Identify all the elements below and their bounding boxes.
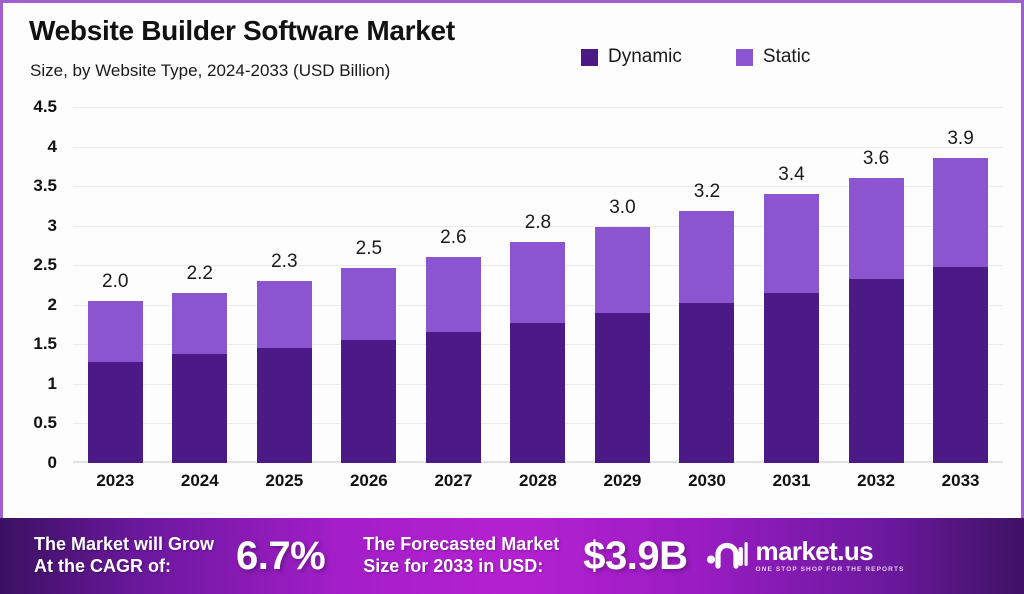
bar-stack[interactable] <box>595 227 650 463</box>
bar-stack[interactable] <box>88 301 143 463</box>
forecast-value: $3.9B <box>583 534 687 579</box>
bar-stack[interactable] <box>341 268 396 463</box>
bar-segment-static[interactable] <box>595 227 650 313</box>
logo-wordmark: market.us ONE STOP SHOP FOR THE REPORTS <box>756 538 905 574</box>
y-axis-tick: 2 <box>48 295 57 315</box>
bar-segment-static[interactable] <box>172 293 227 354</box>
logo-name: market.us <box>756 538 905 564</box>
y-axis-tick: 0 <box>48 453 57 473</box>
bar-segment-static[interactable] <box>764 194 819 293</box>
bar-value-label: 3.2 <box>694 181 720 203</box>
bar-value-label: 2.3 <box>271 251 297 273</box>
bar-column[interactable]: 3.9 <box>919 107 1002 463</box>
market-us-logo[interactable]: market.us ONE STOP SHOP FOR THE REPORTS <box>706 538 905 574</box>
x-axis-tick: 2033 <box>919 471 1002 491</box>
bar-group: 2.02.22.32.52.62.83.03.23.43.63.9 <box>73 107 1003 463</box>
bar-segment-dynamic[interactable] <box>679 303 734 463</box>
bar-segment-static[interactable] <box>341 268 396 339</box>
bar-segment-dynamic[interactable] <box>341 340 396 463</box>
chart-subtitle: Size, by Website Type, 2024-2033 (USD Bi… <box>30 61 390 81</box>
bar-value-label: 3.4 <box>778 164 804 186</box>
x-axis: 2023202420252026202720282029203020312032… <box>73 471 1003 491</box>
bar-value-label: 2.6 <box>440 227 466 249</box>
x-axis-tick: 2028 <box>496 471 579 491</box>
x-axis-tick: 2032 <box>835 471 918 491</box>
x-axis-tick: 2025 <box>243 471 326 491</box>
forecast-caption-line1: The Forecasted Market <box>363 534 559 556</box>
cagr-caption-line1: The Market will Grow <box>34 534 214 556</box>
x-axis-tick: 2024 <box>158 471 241 491</box>
infographic-root: Website Builder Software Market Size, by… <box>0 0 1024 594</box>
legend-item-static[interactable]: Static <box>736 46 811 68</box>
bar-segment-dynamic[interactable] <box>510 323 565 463</box>
bar-column[interactable]: 2.6 <box>412 107 495 463</box>
cagr-caption: The Market will Grow At the CAGR of: <box>34 534 214 578</box>
bar-column[interactable]: 2.0 <box>74 107 157 463</box>
bar-value-label: 3.9 <box>947 128 973 150</box>
bar-value-label: 3.0 <box>609 197 635 219</box>
bar-segment-static[interactable] <box>849 178 904 279</box>
bar-segment-dynamic[interactable] <box>595 313 650 463</box>
bar-column[interactable]: 3.2 <box>665 107 748 463</box>
bar-segment-dynamic[interactable] <box>933 267 988 463</box>
y-axis-tick: 2.5 <box>33 255 57 275</box>
bar-segment-static[interactable] <box>257 281 312 347</box>
bar-segment-dynamic[interactable] <box>88 362 143 463</box>
x-axis-tick: 2030 <box>665 471 748 491</box>
bar-segment-dynamic[interactable] <box>172 354 227 463</box>
legend-item-dynamic[interactable]: Dynamic <box>581 46 682 68</box>
cagr-caption-line2: At the CAGR of: <box>34 556 214 578</box>
bar-segment-static[interactable] <box>933 158 988 267</box>
bar-segment-dynamic[interactable] <box>426 332 481 463</box>
x-axis-tick: 2029 <box>581 471 664 491</box>
bar-segment-dynamic[interactable] <box>257 348 312 464</box>
y-axis-tick: 1.5 <box>33 334 57 354</box>
bar-column[interactable]: 2.5 <box>327 107 410 463</box>
bar-segment-dynamic[interactable] <box>849 279 904 463</box>
bar-segment-static[interactable] <box>88 301 143 362</box>
bar-value-label: 2.8 <box>525 212 551 234</box>
bar-column[interactable]: 2.3 <box>243 107 326 463</box>
bar-value-label: 2.0 <box>102 271 128 293</box>
y-axis-tick: 4 <box>48 137 57 157</box>
bar-segment-static[interactable] <box>510 242 565 323</box>
bar-stack[interactable] <box>510 242 565 464</box>
bar-value-label: 3.6 <box>863 148 889 170</box>
x-axis-tick: 2027 <box>412 471 495 491</box>
bar-stack[interactable] <box>849 178 904 463</box>
page-title: Website Builder Software Market <box>29 15 455 47</box>
y-axis-tick: 3 <box>48 216 57 236</box>
chart-legend: DynamicStatic <box>581 46 810 68</box>
bar-stack[interactable] <box>172 293 227 463</box>
bar-segment-static[interactable] <box>679 211 734 303</box>
bar-column[interactable]: 3.4 <box>750 107 833 463</box>
logo-tagline: ONE STOP SHOP FOR THE REPORTS <box>756 567 905 574</box>
legend-label: Dynamic <box>608 46 682 68</box>
forecast-caption: The Forecasted Market Size for 2033 in U… <box>363 534 559 578</box>
legend-label: Static <box>763 46 811 68</box>
chart-panel: Website Builder Software Market Size, by… <box>0 0 1024 518</box>
y-axis-tick: 0.5 <box>33 413 57 433</box>
bar-column[interactable]: 3.6 <box>835 107 918 463</box>
y-axis-tick: 4.5 <box>33 97 57 117</box>
y-axis-tick: 3.5 <box>33 176 57 196</box>
bar-segment-dynamic[interactable] <box>764 293 819 463</box>
bar-stack[interactable] <box>257 281 312 463</box>
x-axis-tick: 2023 <box>74 471 157 491</box>
bar-stack[interactable] <box>679 211 734 463</box>
bar-stack[interactable] <box>764 194 819 463</box>
bar-column[interactable]: 3.0 <box>581 107 664 463</box>
square-swatch-icon <box>581 49 598 66</box>
forecast-caption-line2: Size for 2033 in USD: <box>363 556 559 578</box>
x-axis-tick: 2026 <box>327 471 410 491</box>
y-axis-tick: 1 <box>48 374 57 394</box>
bar-value-label: 2.5 <box>356 238 382 260</box>
bar-column[interactable]: 2.8 <box>496 107 579 463</box>
plot-area: 2.02.22.32.52.62.83.03.23.43.63.9 <box>73 107 1003 463</box>
bar-column[interactable]: 2.2 <box>158 107 241 463</box>
cagr-value: 6.7% <box>236 534 325 579</box>
bar-value-label: 2.2 <box>187 263 213 285</box>
market-us-logo-icon <box>706 539 748 574</box>
summary-banner: The Market will Grow At the CAGR of: 6.7… <box>0 518 1024 594</box>
cagr-block: The Market will Grow At the CAGR of: 6.7… <box>34 534 325 579</box>
bar-segment-static[interactable] <box>426 257 481 331</box>
forecast-block: The Forecasted Market Size for 2033 in U… <box>363 534 687 579</box>
x-axis-tick: 2031 <box>750 471 833 491</box>
y-axis: 00.511.522.533.544.5 <box>3 101 65 465</box>
bar-stack[interactable] <box>933 158 988 463</box>
bar-stack[interactable] <box>426 257 481 463</box>
square-swatch-icon <box>736 49 753 66</box>
